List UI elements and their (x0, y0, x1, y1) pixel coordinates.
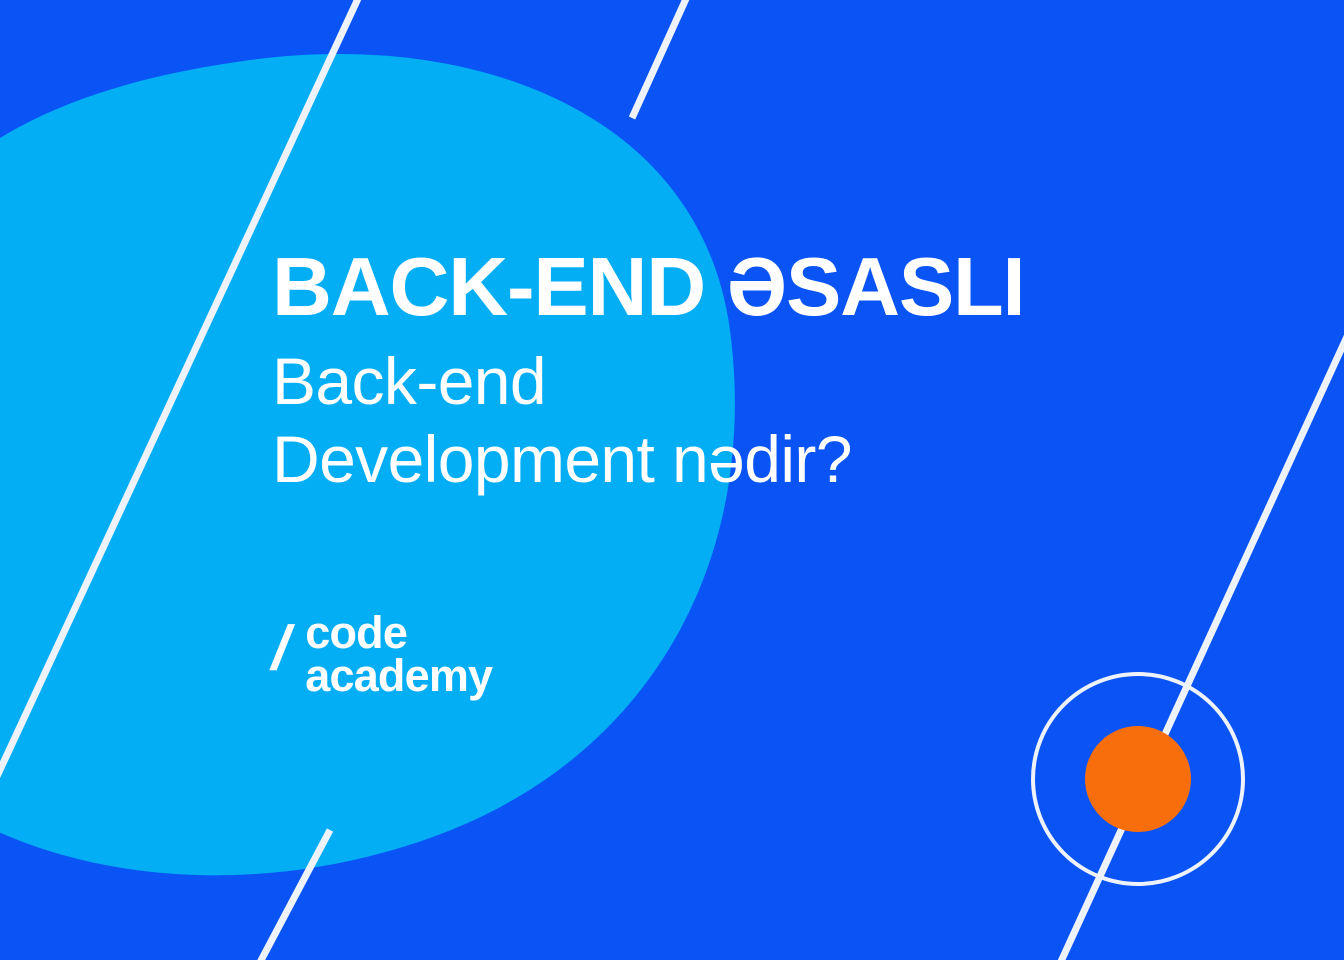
poster-canvas: BACK-END ƏSASLI Back-end Development nəd… (0, 0, 1344, 960)
orange-dot (1085, 726, 1191, 832)
slash-icon: / (271, 618, 289, 680)
brand-logo: / code academy (272, 612, 492, 697)
brand-logo-line-code: code (305, 612, 492, 653)
subtitle-line-2: Development nədir? (272, 421, 1052, 499)
text-block: BACK-END ƏSASLI Back-end Development nəd… (272, 246, 1172, 499)
page-title: BACK-END ƏSASLI (272, 246, 1172, 327)
brand-logo-line-academy: academy (305, 655, 492, 696)
subtitle-line-1: Back-end (272, 343, 1052, 421)
page-subtitle: Back-end Development nədir? (272, 343, 1052, 499)
brand-logo-wordmark: code academy (305, 612, 492, 697)
